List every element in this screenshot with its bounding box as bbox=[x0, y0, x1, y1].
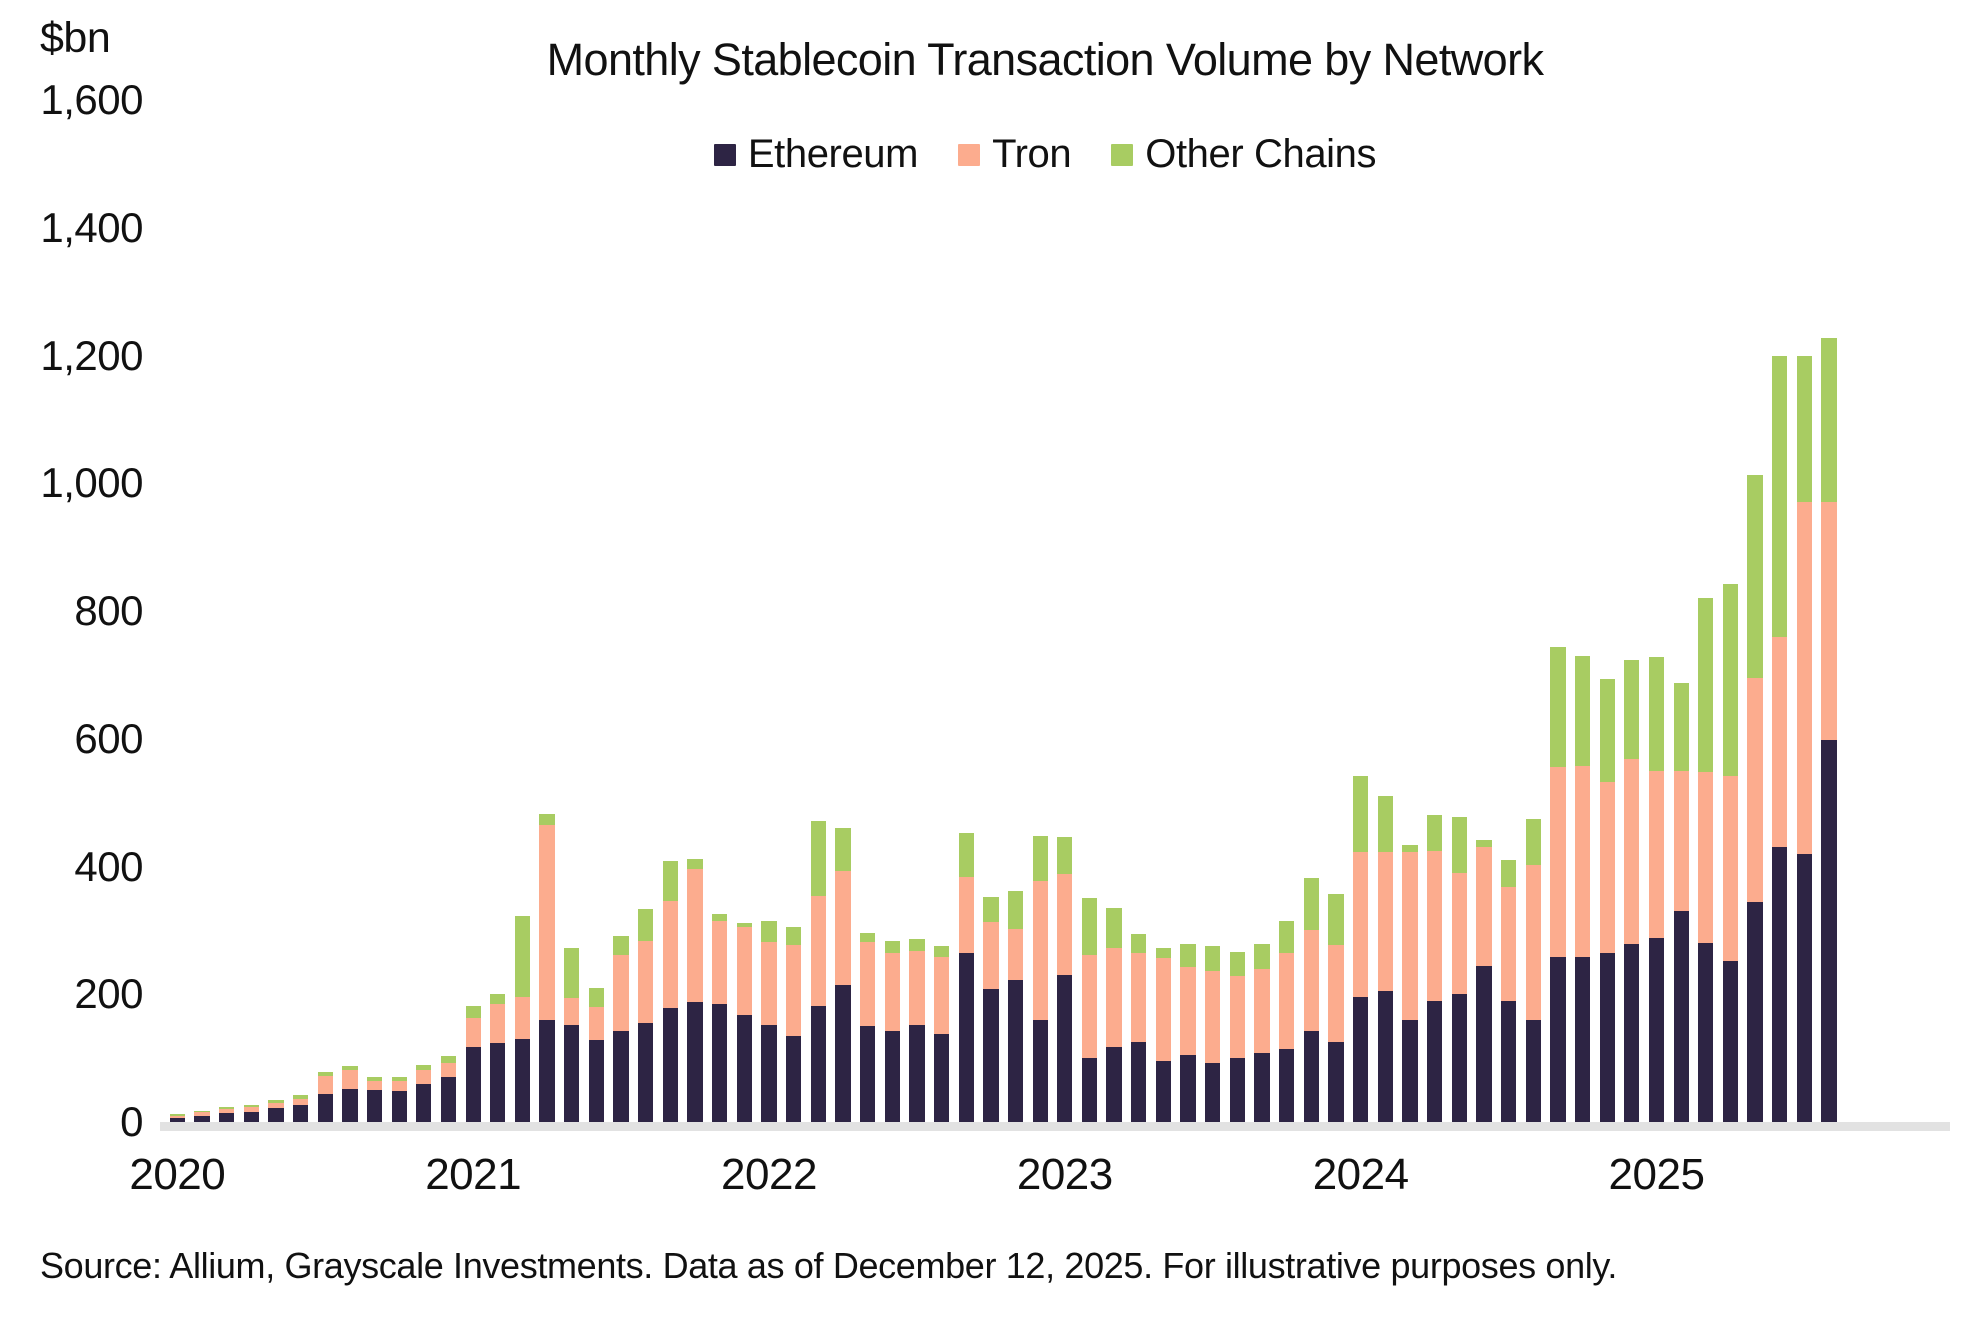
bar-segment-tron bbox=[761, 942, 776, 1025]
bar-segment-tron bbox=[1279, 953, 1294, 1049]
bar-2023-01[interactable] bbox=[1057, 837, 1072, 1122]
bar-2021-08[interactable] bbox=[638, 909, 653, 1122]
bar-segment-other-chains bbox=[1797, 356, 1812, 503]
bar-segment-tron bbox=[1057, 874, 1072, 975]
bar-segment-ethereum bbox=[885, 1031, 900, 1122]
bar-segment-ethereum bbox=[268, 1108, 283, 1122]
bar-2021-12[interactable] bbox=[737, 923, 752, 1122]
bar-segment-other-chains bbox=[613, 936, 628, 955]
bar-2022-12[interactable] bbox=[1033, 836, 1048, 1122]
bar-segment-other-chains bbox=[761, 921, 776, 941]
x-axis-baseline bbox=[160, 1122, 1950, 1131]
bar-segment-tron bbox=[1698, 772, 1713, 943]
bar-segment-ethereum bbox=[687, 1002, 702, 1122]
bar-segment-ethereum bbox=[416, 1084, 431, 1122]
bar-segment-tron bbox=[589, 1007, 604, 1040]
plot-area: 02004006008001,0001,2001,4001,600 bbox=[165, 100, 1940, 1122]
bar-2025-08[interactable] bbox=[1821, 338, 1836, 1122]
bar-2025-02[interactable] bbox=[1674, 683, 1689, 1122]
bar-2024-01[interactable] bbox=[1353, 776, 1368, 1122]
bar-segment-other-chains bbox=[1772, 356, 1787, 637]
bar-segment-tron bbox=[909, 951, 924, 1025]
bar-segment-ethereum bbox=[786, 1036, 801, 1122]
y-axis-tick-label: 800 bbox=[74, 587, 165, 635]
bar-segment-tron bbox=[1180, 967, 1195, 1055]
bar-segment-ethereum bbox=[1575, 957, 1590, 1122]
bar-2024-11[interactable] bbox=[1600, 679, 1615, 1122]
bar-segment-tron bbox=[466, 1018, 481, 1047]
bar-segment-tron bbox=[1624, 759, 1639, 944]
bar-segment-other-chains bbox=[1131, 934, 1146, 953]
bar-2020-02[interactable] bbox=[194, 1111, 209, 1122]
bar-segment-other-chains bbox=[885, 941, 900, 954]
bar-segment-tron bbox=[712, 921, 727, 1004]
bar-segment-other-chains bbox=[1082, 898, 1097, 954]
bar-segment-other-chains bbox=[1402, 845, 1417, 853]
bar-2025-01[interactable] bbox=[1649, 657, 1664, 1122]
bar-segment-ethereum bbox=[663, 1008, 678, 1122]
bar-2021-06[interactable] bbox=[589, 988, 604, 1122]
bar-segment-tron bbox=[934, 957, 949, 1034]
chart-root: $bn Monthly Stablecoin Transaction Volum… bbox=[0, 0, 1980, 1321]
bar-segment-tron bbox=[1304, 930, 1319, 1031]
bar-segment-ethereum bbox=[466, 1047, 481, 1122]
bar-segment-ethereum bbox=[342, 1089, 357, 1122]
bar-2021-03[interactable] bbox=[515, 916, 530, 1122]
bar-segment-ethereum bbox=[1476, 966, 1491, 1122]
bar-segment-tron bbox=[1526, 865, 1541, 1020]
bar-segment-tron bbox=[367, 1081, 382, 1090]
bar-segment-ethereum bbox=[1328, 1042, 1343, 1122]
bar-segment-other-chains bbox=[1624, 660, 1639, 759]
bar-2023-02[interactable] bbox=[1082, 898, 1097, 1122]
bar-2022-11[interactable] bbox=[1008, 891, 1023, 1122]
y-axis-tick-label: 1,000 bbox=[40, 459, 165, 507]
bar-segment-ethereum bbox=[318, 1094, 333, 1122]
bar-segment-ethereum bbox=[761, 1025, 776, 1122]
bar-segment-other-chains bbox=[1698, 598, 1713, 772]
bar-2023-07[interactable] bbox=[1205, 946, 1220, 1122]
bar-segment-ethereum bbox=[1747, 902, 1762, 1122]
bar-segment-ethereum bbox=[1698, 943, 1713, 1122]
bar-segment-ethereum bbox=[1082, 1058, 1097, 1122]
bar-segment-tron bbox=[1821, 502, 1836, 740]
y-axis-tick-label: 1,200 bbox=[40, 332, 165, 380]
bar-segment-tron bbox=[1033, 881, 1048, 1020]
bar-segment-tron bbox=[1501, 887, 1516, 1001]
bar-2025-04[interactable] bbox=[1723, 584, 1738, 1122]
x-axis-tick-label: 2024 bbox=[1313, 1150, 1409, 1200]
bar-2023-11[interactable] bbox=[1304, 878, 1319, 1122]
bar-segment-other-chains bbox=[638, 909, 653, 941]
bar-segment-tron bbox=[1427, 851, 1442, 1001]
bar-segment-other-chains bbox=[1550, 647, 1565, 767]
bar-segment-ethereum bbox=[244, 1112, 259, 1122]
bar-segment-ethereum bbox=[1674, 911, 1689, 1122]
bar-segment-tron bbox=[1674, 771, 1689, 912]
y-axis-tick-label: 1,400 bbox=[40, 204, 165, 252]
bar-segment-ethereum bbox=[1156, 1061, 1171, 1122]
bar-segment-other-chains bbox=[466, 1006, 481, 1017]
bar-segment-ethereum bbox=[1033, 1020, 1048, 1122]
bar-segment-ethereum bbox=[860, 1026, 875, 1122]
bar-segment-tron bbox=[1205, 971, 1220, 1064]
bar-segment-ethereum bbox=[293, 1105, 308, 1122]
bar-segment-tron bbox=[1476, 847, 1491, 965]
bar-segment-other-chains bbox=[1106, 908, 1121, 948]
bar-segment-ethereum bbox=[564, 1025, 579, 1122]
bar-segment-tron bbox=[638, 941, 653, 1023]
bar-segment-tron bbox=[539, 825, 554, 1020]
bar-segment-other-chains bbox=[539, 814, 554, 825]
bar-segment-ethereum bbox=[392, 1091, 407, 1122]
chart-title: Monthly Stablecoin Transaction Volume by… bbox=[0, 34, 1980, 86]
bar-2024-02[interactable] bbox=[1378, 796, 1393, 1122]
bar-segment-other-chains bbox=[1304, 878, 1319, 930]
bar-segment-other-chains bbox=[1205, 946, 1220, 970]
bar-2023-03[interactable] bbox=[1106, 908, 1121, 1122]
bar-2023-05[interactable] bbox=[1156, 948, 1171, 1122]
bar-segment-ethereum bbox=[909, 1025, 924, 1122]
bar-segment-other-chains bbox=[1279, 921, 1294, 953]
bar-2021-10[interactable] bbox=[687, 859, 702, 1122]
bar-segment-other-chains bbox=[687, 859, 702, 869]
bar-2020-05[interactable] bbox=[268, 1100, 283, 1122]
bar-2022-01[interactable] bbox=[761, 921, 776, 1122]
bar-segment-tron bbox=[1106, 948, 1121, 1047]
bar-segment-other-chains bbox=[786, 927, 801, 945]
bar-2022-08[interactable] bbox=[934, 946, 949, 1122]
x-axis-tick-label: 2020 bbox=[129, 1150, 225, 1200]
bar-segment-ethereum bbox=[1772, 847, 1787, 1122]
bar-2021-05[interactable] bbox=[564, 948, 579, 1122]
bar-segment-other-chains bbox=[1033, 836, 1048, 881]
bar-segment-other-chains bbox=[1821, 338, 1836, 503]
source-note: Source: Allium, Grayscale Investments. D… bbox=[40, 1245, 1617, 1287]
bar-segment-ethereum bbox=[539, 1020, 554, 1122]
bar-segment-tron bbox=[663, 901, 678, 1008]
bar-segment-ethereum bbox=[959, 953, 974, 1122]
bar-segment-tron bbox=[490, 1004, 505, 1042]
bar-2023-04[interactable] bbox=[1131, 934, 1146, 1122]
bar-segment-ethereum bbox=[638, 1023, 653, 1122]
bar-segment-ethereum bbox=[1821, 740, 1836, 1122]
bar-2024-07[interactable] bbox=[1501, 860, 1516, 1122]
bar-segment-tron bbox=[613, 955, 628, 1032]
x-axis-tick-label: 2025 bbox=[1609, 1150, 1705, 1200]
bar-segment-ethereum bbox=[737, 1015, 752, 1122]
bar-segment-other-chains bbox=[1723, 584, 1738, 776]
bar-segment-ethereum bbox=[219, 1113, 234, 1122]
bar-2021-02[interactable] bbox=[490, 994, 505, 1122]
bar-segment-tron bbox=[441, 1063, 456, 1077]
bar-group bbox=[165, 100, 1940, 1122]
bar-2021-04[interactable] bbox=[539, 814, 554, 1122]
bar-segment-other-chains bbox=[811, 821, 826, 896]
bar-segment-tron bbox=[342, 1070, 357, 1089]
bar-segment-other-chains bbox=[441, 1056, 456, 1064]
bar-2023-12[interactable] bbox=[1328, 894, 1343, 1122]
bar-segment-ethereum bbox=[1797, 854, 1812, 1122]
bar-2020-04[interactable] bbox=[244, 1105, 259, 1122]
bar-segment-ethereum bbox=[1057, 975, 1072, 1122]
bar-segment-tron bbox=[885, 953, 900, 1031]
bar-segment-other-chains bbox=[1353, 776, 1368, 851]
bar-2022-03[interactable] bbox=[811, 821, 826, 1122]
x-axis-tick-label: 2021 bbox=[425, 1150, 521, 1200]
bar-segment-ethereum bbox=[367, 1090, 382, 1122]
bar-2022-04[interactable] bbox=[835, 828, 850, 1122]
bar-segment-ethereum bbox=[1254, 1053, 1269, 1122]
bar-2022-09[interactable] bbox=[959, 833, 974, 1122]
bar-2022-05[interactable] bbox=[860, 933, 875, 1122]
bar-segment-tron bbox=[1550, 767, 1565, 957]
bar-2021-11[interactable] bbox=[712, 914, 727, 1122]
bar-segment-tron bbox=[1797, 502, 1812, 853]
bar-segment-other-chains bbox=[1674, 683, 1689, 771]
bar-2024-08[interactable] bbox=[1526, 819, 1541, 1122]
bar-segment-ethereum bbox=[1230, 1058, 1245, 1122]
bar-2021-01[interactable] bbox=[466, 1006, 481, 1122]
bar-segment-tron bbox=[318, 1076, 333, 1094]
bar-segment-other-chains bbox=[1180, 944, 1195, 966]
bar-segment-ethereum bbox=[515, 1039, 530, 1122]
bar-segment-tron bbox=[1156, 958, 1171, 1061]
bar-segment-tron bbox=[983, 922, 998, 989]
bar-segment-ethereum bbox=[1279, 1049, 1294, 1122]
bar-segment-other-chains bbox=[1649, 657, 1664, 771]
bar-segment-tron bbox=[1575, 766, 1590, 958]
bar-2020-11[interactable] bbox=[416, 1065, 431, 1122]
bar-segment-other-chains bbox=[1476, 840, 1491, 848]
bar-segment-other-chains bbox=[515, 916, 530, 998]
bar-segment-tron bbox=[1600, 782, 1615, 953]
bar-segment-tron bbox=[1452, 873, 1467, 994]
bar-segment-other-chains bbox=[1427, 815, 1442, 850]
bar-segment-tron bbox=[416, 1070, 431, 1084]
bar-segment-other-chains bbox=[1156, 948, 1171, 958]
bar-segment-other-chains bbox=[1378, 796, 1393, 852]
bar-segment-other-chains bbox=[1230, 952, 1245, 976]
bar-2022-10[interactable] bbox=[983, 897, 998, 1122]
bar-segment-ethereum bbox=[1600, 953, 1615, 1122]
bar-2023-09[interactable] bbox=[1254, 944, 1269, 1122]
bar-2020-12[interactable] bbox=[441, 1056, 456, 1122]
bar-segment-ethereum bbox=[441, 1077, 456, 1122]
bar-segment-other-chains bbox=[1747, 475, 1762, 678]
bar-segment-ethereum bbox=[1427, 1001, 1442, 1122]
bar-segment-ethereum bbox=[1180, 1055, 1195, 1122]
bar-segment-tron bbox=[564, 998, 579, 1025]
bar-segment-ethereum bbox=[1353, 997, 1368, 1122]
bar-segment-tron bbox=[1008, 929, 1023, 980]
y-axis-tick-label: 0 bbox=[120, 1098, 165, 1146]
bar-2020-07[interactable] bbox=[318, 1072, 333, 1122]
bar-segment-tron bbox=[835, 871, 850, 985]
bar-segment-other-chains bbox=[1057, 837, 1072, 874]
bar-segment-other-chains bbox=[490, 994, 505, 1004]
bar-segment-other-chains bbox=[934, 946, 949, 957]
bar-segment-tron bbox=[1747, 678, 1762, 902]
bar-2024-09[interactable] bbox=[1550, 647, 1565, 1122]
bar-2023-10[interactable] bbox=[1279, 921, 1294, 1122]
bar-segment-other-chains bbox=[959, 833, 974, 878]
bar-segment-other-chains bbox=[663, 861, 678, 901]
bar-segment-tron bbox=[1649, 771, 1664, 938]
bar-segment-ethereum bbox=[1526, 1020, 1541, 1122]
bar-segment-ethereum bbox=[1402, 1020, 1417, 1122]
bar-segment-ethereum bbox=[1624, 944, 1639, 1122]
x-axis-tick-label: 2022 bbox=[721, 1150, 817, 1200]
bar-2021-09[interactable] bbox=[663, 861, 678, 1122]
bar-segment-tron bbox=[515, 997, 530, 1039]
bar-2025-03[interactable] bbox=[1698, 598, 1713, 1122]
bar-segment-other-chains bbox=[860, 933, 875, 942]
bar-2020-10[interactable] bbox=[392, 1077, 407, 1122]
bar-segment-other-chains bbox=[564, 948, 579, 998]
bar-segment-tron bbox=[737, 927, 752, 1015]
bar-segment-ethereum bbox=[613, 1031, 628, 1122]
bar-segment-tron bbox=[1378, 852, 1393, 991]
bar-2020-06[interactable] bbox=[293, 1095, 308, 1122]
bar-segment-ethereum bbox=[1723, 961, 1738, 1122]
y-axis-tick-label: 600 bbox=[74, 715, 165, 763]
bar-segment-other-chains bbox=[1575, 656, 1590, 766]
bar-segment-ethereum bbox=[1131, 1042, 1146, 1122]
bar-segment-other-chains bbox=[589, 988, 604, 1007]
bar-2025-05[interactable] bbox=[1747, 475, 1762, 1122]
bar-2024-12[interactable] bbox=[1624, 660, 1639, 1122]
bar-2025-07[interactable] bbox=[1797, 356, 1812, 1122]
bar-segment-ethereum bbox=[589, 1040, 604, 1122]
bar-segment-tron bbox=[1230, 976, 1245, 1058]
bar-segment-other-chains bbox=[835, 828, 850, 871]
bar-segment-other-chains bbox=[1600, 679, 1615, 781]
y-axis-tick-label: 200 bbox=[74, 970, 165, 1018]
bar-segment-other-chains bbox=[909, 939, 924, 950]
bar-segment-tron bbox=[687, 869, 702, 1002]
bar-segment-tron bbox=[1402, 852, 1417, 1019]
bar-2020-03[interactable] bbox=[219, 1107, 234, 1122]
bar-2022-07[interactable] bbox=[909, 939, 924, 1122]
bar-segment-ethereum bbox=[1008, 980, 1023, 1122]
bar-segment-ethereum bbox=[1378, 991, 1393, 1122]
y-axis-tick-label: 400 bbox=[74, 843, 165, 891]
bar-segment-ethereum bbox=[490, 1043, 505, 1122]
bar-segment-tron bbox=[811, 896, 826, 1006]
bar-segment-tron bbox=[959, 877, 974, 952]
bar-2024-05[interactable] bbox=[1452, 817, 1467, 1122]
bar-segment-ethereum bbox=[835, 985, 850, 1122]
bar-segment-tron bbox=[1131, 953, 1146, 1042]
bar-2022-06[interactable] bbox=[885, 941, 900, 1122]
bar-segment-ethereum bbox=[1304, 1031, 1319, 1122]
bar-segment-other-chains bbox=[1008, 891, 1023, 929]
bar-segment-other-chains bbox=[1501, 860, 1516, 887]
bar-segment-ethereum bbox=[983, 989, 998, 1122]
bar-segment-other-chains bbox=[1328, 894, 1343, 945]
bar-2024-04[interactable] bbox=[1427, 815, 1442, 1122]
bar-2020-01[interactable] bbox=[170, 1114, 185, 1122]
bar-segment-ethereum bbox=[1106, 1047, 1121, 1122]
bar-segment-tron bbox=[1772, 637, 1787, 848]
bar-segment-other-chains bbox=[1452, 817, 1467, 873]
bar-segment-ethereum bbox=[1550, 957, 1565, 1122]
bar-2020-09[interactable] bbox=[367, 1077, 382, 1122]
bar-2024-03[interactable] bbox=[1402, 845, 1417, 1122]
y-axis-tick-label: 1,600 bbox=[40, 76, 165, 124]
bar-2022-02[interactable] bbox=[786, 927, 801, 1122]
bar-segment-tron bbox=[786, 945, 801, 1036]
bar-segment-tron bbox=[1353, 852, 1368, 998]
bar-segment-tron bbox=[1254, 969, 1269, 1053]
bar-segment-ethereum bbox=[811, 1006, 826, 1122]
bar-segment-ethereum bbox=[1501, 1001, 1516, 1122]
bar-segment-ethereum bbox=[712, 1004, 727, 1122]
bar-segment-tron bbox=[1328, 945, 1343, 1042]
x-axis-tick-label: 2023 bbox=[1017, 1150, 1113, 1200]
bar-2023-06[interactable] bbox=[1180, 944, 1195, 1122]
bar-2020-08[interactable] bbox=[342, 1066, 357, 1122]
bar-segment-tron bbox=[392, 1081, 407, 1091]
bar-segment-tron bbox=[1082, 955, 1097, 1058]
bar-2025-06[interactable] bbox=[1772, 356, 1787, 1122]
bar-segment-other-chains bbox=[983, 897, 998, 923]
bar-segment-ethereum bbox=[1452, 994, 1467, 1122]
bar-2024-06[interactable] bbox=[1476, 840, 1491, 1122]
bar-segment-other-chains bbox=[1254, 944, 1269, 968]
bar-segment-ethereum bbox=[1649, 938, 1664, 1122]
bar-2023-08[interactable] bbox=[1230, 952, 1245, 1122]
bar-segment-other-chains bbox=[1526, 819, 1541, 865]
bar-segment-tron bbox=[1723, 776, 1738, 961]
bar-2024-10[interactable] bbox=[1575, 656, 1590, 1122]
bar-segment-tron bbox=[860, 942, 875, 1026]
bar-segment-ethereum bbox=[934, 1034, 949, 1122]
bar-2021-07[interactable] bbox=[613, 936, 628, 1122]
bar-segment-ethereum bbox=[1205, 1063, 1220, 1122]
